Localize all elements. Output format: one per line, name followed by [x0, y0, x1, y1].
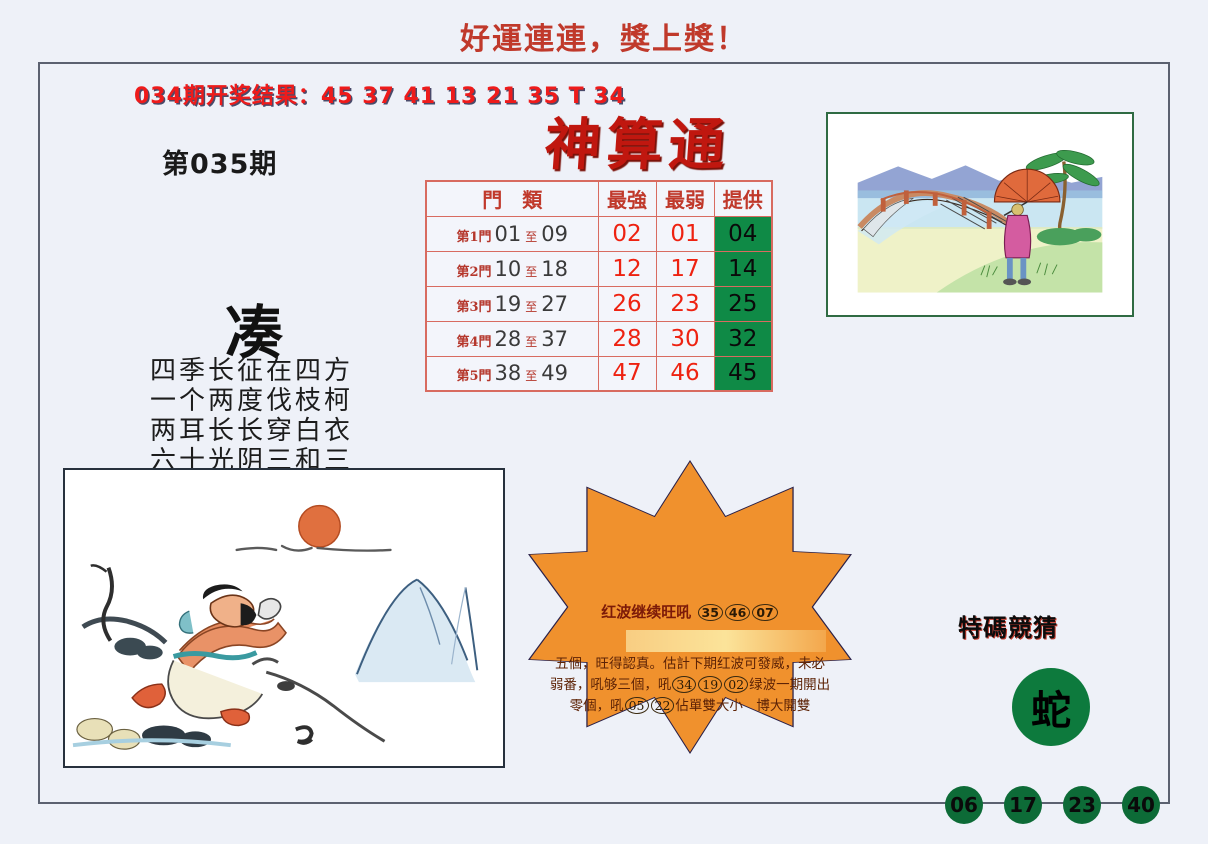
table-row: 第5門38至49 47 46 45	[426, 356, 772, 391]
cell-weakest: 46	[656, 356, 714, 391]
body-line2-number: 02	[724, 676, 748, 693]
cell-weakest: 17	[656, 251, 714, 286]
range-sep: 至	[525, 300, 537, 314]
starburst-body-line: 五個，旺得認真。估計下期红波可發威，未必	[544, 654, 836, 675]
body-line2-b: 绿波一期開出	[749, 677, 830, 693]
body-line3-number: 05	[625, 697, 649, 714]
cell-provide: 25	[714, 286, 772, 321]
cell-weakest: 30	[656, 321, 714, 356]
gate-label: 第5門	[456, 369, 491, 384]
range-to: 49	[541, 361, 568, 385]
issue-label: 第035期	[162, 142, 277, 181]
cell-strongest: 12	[598, 251, 656, 286]
guess-number-ball: 23	[1063, 786, 1101, 824]
range-from: 10	[495, 257, 522, 281]
body-line3-number: 22	[651, 697, 675, 714]
cell-provide: 32	[714, 321, 772, 356]
cell-strongest: 26	[598, 286, 656, 321]
cell-provide: 14	[714, 251, 772, 286]
range-sep: 至	[525, 335, 537, 349]
range-from: 38	[495, 361, 522, 385]
body-line2-number: 34	[672, 676, 696, 693]
range-sep: 至	[525, 369, 537, 383]
table-row: 第3門19至27 26 23 25	[426, 286, 772, 321]
cell-weakest: 01	[656, 216, 714, 251]
guess-title: 特碼競猜	[958, 608, 1058, 643]
starburst-callout: 红波继续旺吼 354607 五個，旺得認真。估計下期红波可發威，未必 弱番，吼够…	[530, 462, 850, 752]
bridge-painting-svg	[837, 123, 1123, 306]
cell-category: 第4門28至37	[426, 321, 598, 356]
header-provide: 提供	[714, 181, 772, 216]
starburst-headline-number: 07	[752, 604, 777, 621]
range-to: 27	[541, 292, 568, 316]
gate-label: 第2門	[456, 265, 491, 280]
range-sep: 至	[525, 230, 537, 244]
guess-number-ball: 17	[1004, 786, 1042, 824]
body-line3-b: 佔單雙大小 博大開雙	[675, 698, 810, 714]
page-root: 好運連連，獎上獎！ 034期开奖结果：45 37 41 13 21 35 T 3…	[0, 0, 1208, 844]
cell-weakest: 23	[656, 286, 714, 321]
header-strongest: 最強	[598, 181, 656, 216]
cell-category: 第2門10至18	[426, 251, 598, 286]
poem-line: 一个两度伐枝柯	[150, 386, 353, 416]
range-to: 09	[541, 222, 568, 246]
poem-line: 四季长征在四方	[150, 356, 353, 386]
ink-painting	[72, 477, 496, 759]
table-row: 第2門10至18 12 17 14	[426, 251, 772, 286]
cell-category: 第3門19至27	[426, 286, 598, 321]
guess-number-ball: 06	[945, 786, 983, 824]
body-line3-a: 零個，吼	[570, 698, 624, 714]
ink-painting-svg	[72, 477, 496, 759]
range-from: 19	[495, 292, 522, 316]
range-from: 01	[495, 222, 522, 246]
body-line2-a: 弱番，吼够三個，吼	[550, 677, 672, 693]
starburst-headline: 红波继续旺吼 354607	[530, 601, 850, 622]
starburst-body-line: 弱番，吼够三個，吼341902绿波一期開出	[544, 675, 836, 696]
bridge-painting	[837, 123, 1123, 306]
main-panel: 034期开奖结果：45 37 41 13 21 35 T 34 第035期 神算…	[38, 62, 1170, 804]
ink-painting-frame	[63, 468, 505, 768]
cell-category: 第1門01至09	[426, 216, 598, 251]
header-weakest: 最弱	[656, 181, 714, 216]
range-sep: 至	[525, 265, 537, 279]
range-to: 37	[541, 327, 568, 351]
riddle-poem: 四季长征在四方 一个两度伐枝柯 两耳长长穿白衣 六十光阴三和三	[150, 356, 353, 476]
brand-logo: 神算通	[542, 100, 734, 181]
starburst-headline-text: 红波继续旺吼	[601, 603, 691, 621]
gate-label: 第4門	[456, 335, 491, 350]
bridge-painting-frame	[826, 112, 1134, 317]
range-from: 28	[495, 327, 522, 351]
forecast-table: 門 類 最強 最弱 提供 第1門01至09 02 01 04 第2門10至18 …	[425, 180, 773, 392]
cell-provide: 04	[714, 216, 772, 251]
banner-title: 好運連連，獎上獎！	[0, 14, 1208, 58]
starburst-headline-number: 46	[725, 604, 750, 621]
cell-strongest: 47	[598, 356, 656, 391]
table-row: 第1門01至09 02 01 04	[426, 216, 772, 251]
gate-label: 第3門	[456, 300, 491, 315]
cell-strongest: 02	[598, 216, 656, 251]
starburst-headline-number: 35	[698, 604, 723, 621]
starburst-body-line: 零個，吼0522佔單雙大小 博大開雙	[544, 696, 836, 717]
cell-category: 第5門38至49	[426, 356, 598, 391]
zodiac-badge: 蛇	[1012, 668, 1090, 746]
starburst-body: 五個，旺得認真。估計下期红波可發威，未必 弱番，吼够三個，吼341902绿波一期…	[544, 654, 836, 717]
gate-label: 第1門	[456, 230, 491, 245]
guess-number-ball: 40	[1122, 786, 1160, 824]
cell-provide: 45	[714, 356, 772, 391]
range-to: 18	[541, 257, 568, 281]
body-line1: 五個，旺得認真。估計下期红波可發威，未必	[555, 656, 825, 672]
table-row: 第4門28至37 28 30 32	[426, 321, 772, 356]
table-header-row: 門 類 最強 最弱 提供	[426, 181, 772, 216]
guess-number-list: 06 17 23 40	[945, 786, 1160, 824]
header-category: 門 類	[426, 181, 598, 216]
cell-strongest: 28	[598, 321, 656, 356]
body-line2-number: 19	[698, 676, 722, 693]
top-banner: 好運連連，獎上獎！	[0, 0, 1208, 62]
poem-line: 两耳长长穿白衣	[150, 416, 353, 446]
